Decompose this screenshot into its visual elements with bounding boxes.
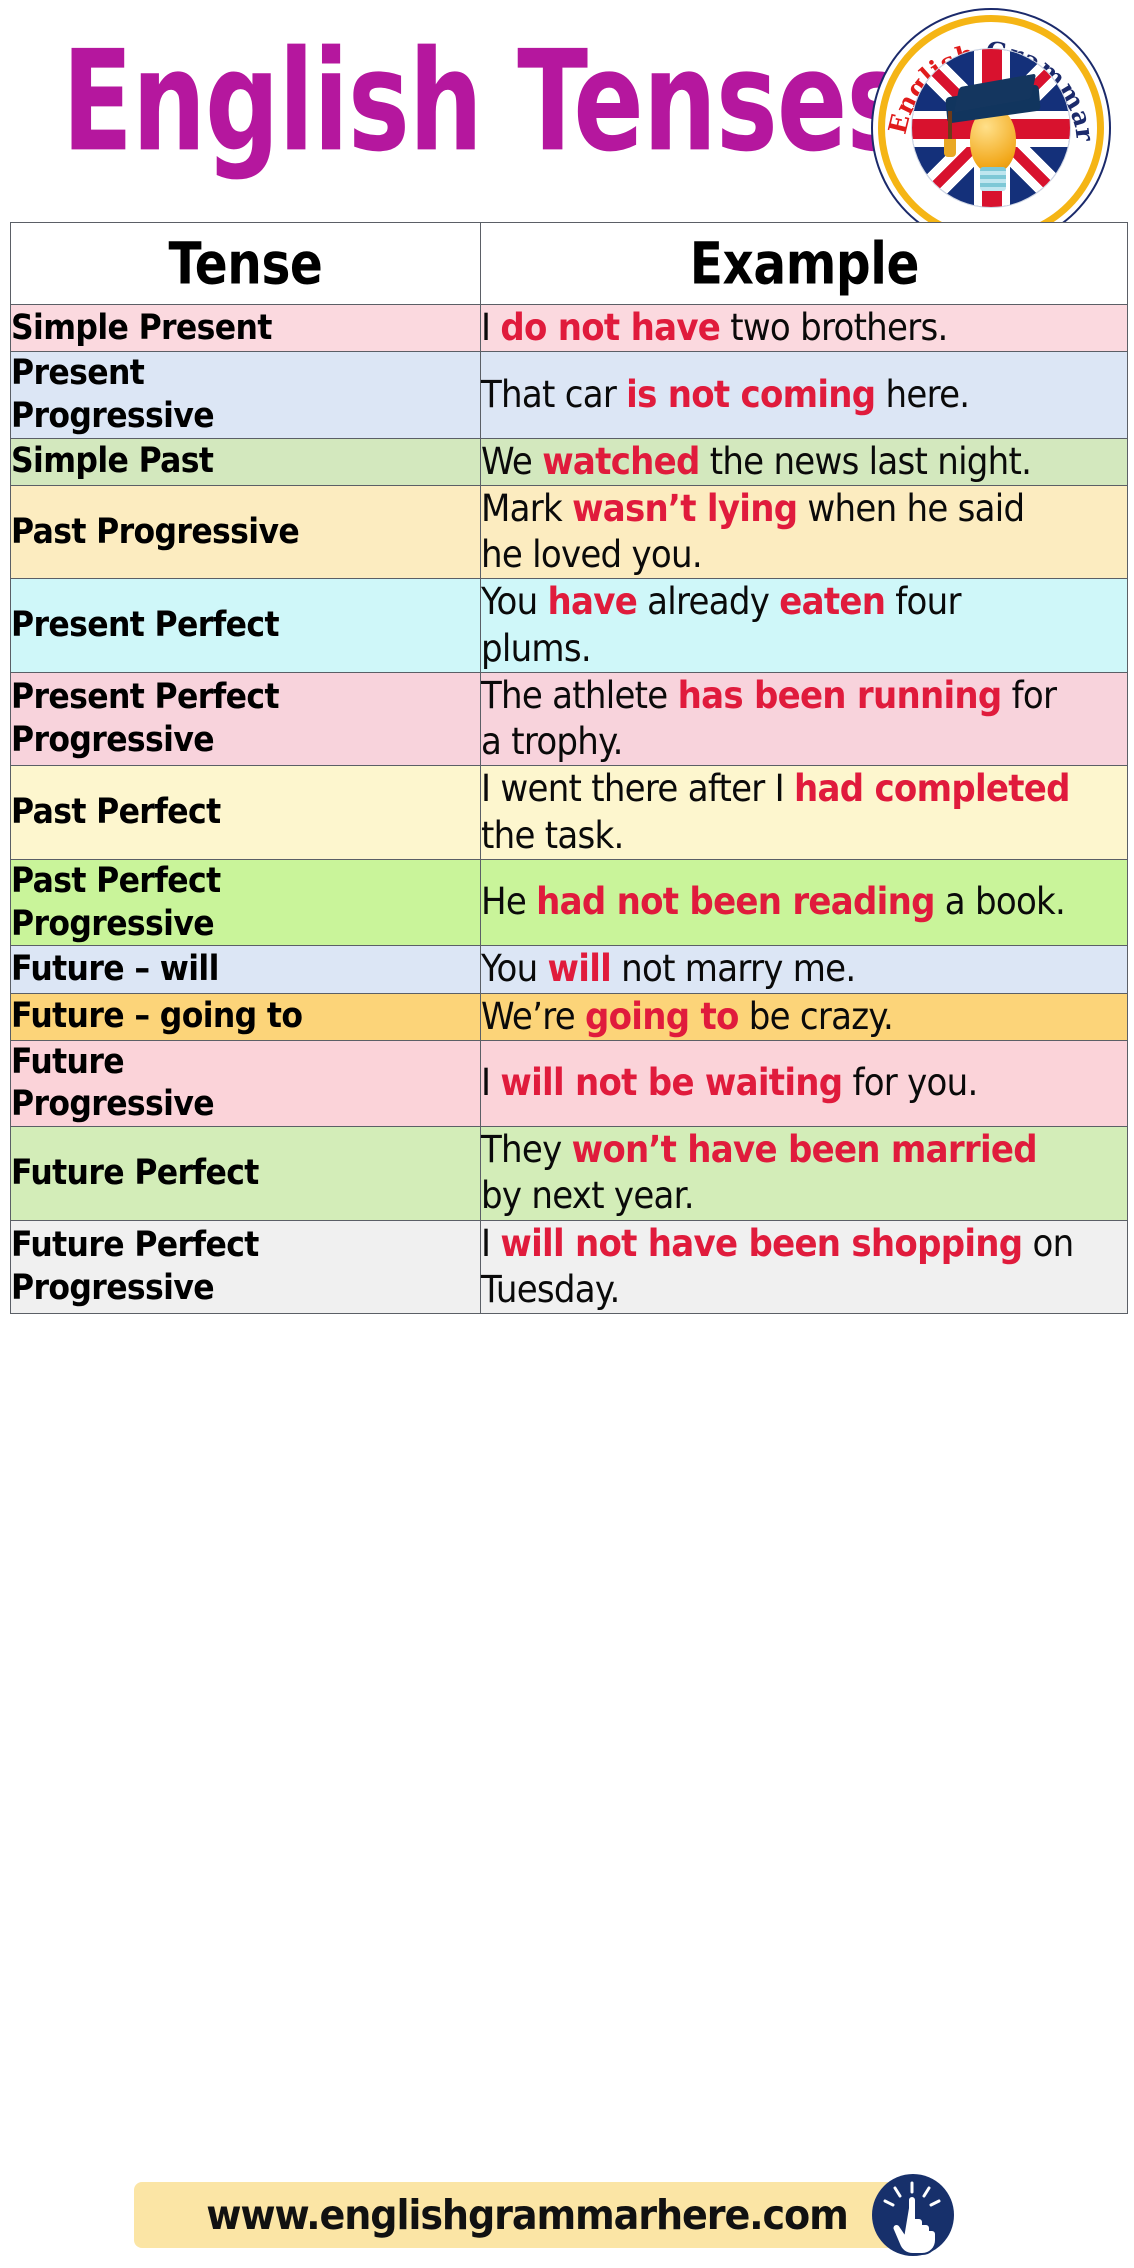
example-sentence: I do not have two brothers. [481, 305, 1075, 351]
example-cell: You will not marry me. [481, 946, 1128, 993]
example-cell: He had not been reading a book. [481, 859, 1128, 945]
tense-cell: Present Perfect Progressive [11, 672, 481, 766]
example-cell: I do not have two brothers. [481, 305, 1128, 352]
tense-label: Past Perfect [11, 791, 433, 834]
example-sentence: I will not have been shopping on Tuesday… [481, 1221, 1075, 1314]
example-cell: That car is not coming here. [481, 352, 1128, 438]
example-sentence: You have already eaten four plums. [481, 579, 1075, 672]
lightbulb-base-icon [980, 167, 1006, 191]
tense-label: Future Perfect [11, 1152, 433, 1195]
tense-label: Present Perfect [11, 604, 433, 647]
example-sentence: Mark wasn’t lying when he said he loved … [481, 486, 1075, 579]
table-row: Simple PastWe watched the news last nigh… [11, 438, 1128, 485]
tense-cell: Future Perfect [11, 1127, 481, 1221]
table-row: Past ProgressiveMark wasn’t lying when h… [11, 485, 1128, 579]
tense-label: Future Progressive [11, 1041, 433, 1126]
table-row: Future – willYou will not marry me. [11, 946, 1128, 993]
tense-label: Simple Past [11, 440, 433, 483]
column-header-tense-label: Tense [169, 229, 323, 297]
example-sentence: That car is not coming here. [481, 372, 1075, 418]
tense-label: Past Perfect Progressive [11, 860, 433, 945]
tense-label: Future – will [11, 948, 433, 991]
table-row: Past Perfect ProgressiveHe had not been … [11, 859, 1128, 945]
tense-cell: Future Perfect Progressive [11, 1220, 481, 1314]
example-cell: We’re going to be crazy. [481, 993, 1128, 1040]
column-header-example-label: Example [689, 229, 918, 297]
website-url[interactable]: www.englishgrammarhere.com [162, 2182, 893, 2248]
tense-cell: Future – going to [11, 993, 481, 1040]
page-footer: www.englishgrammarhere.com [0, 2172, 1134, 2268]
page-title: English Tenses [62, 13, 757, 190]
table-row: Present ProgressiveThat car is not comin… [11, 352, 1128, 438]
tense-cell: Future – will [11, 946, 481, 993]
tenses-table: Tense Example Simple PresentI do not hav… [10, 222, 1128, 1314]
tense-label: Future Perfect Progressive [11, 1224, 433, 1309]
example-cell: I will not be waiting for you. [481, 1040, 1128, 1126]
english-tenses-infographic: English Tenses English Grammar Here.Com [0, 0, 1134, 2268]
table-row: Future PerfectThey won’t have been marri… [11, 1127, 1128, 1221]
table-row: Past PerfectI went there after I had com… [11, 766, 1128, 860]
table-body: Simple PresentI do not have two brothers… [11, 305, 1128, 1314]
example-cell: The athlete has been running for a troph… [481, 672, 1128, 766]
tense-cell: Simple Present [11, 305, 481, 352]
example-cell: They won’t have been married by next yea… [481, 1127, 1128, 1221]
table-row: Present PerfectYou have already eaten fo… [11, 579, 1128, 673]
tense-label: Present Perfect Progressive [11, 676, 433, 761]
graduation-tassel-end-icon [944, 139, 956, 157]
example-sentence: I went there after I had completed the t… [481, 766, 1075, 859]
tense-cell: Simple Past [11, 438, 481, 485]
table-row: Future ProgressiveI will not be waiting … [11, 1040, 1128, 1126]
example-cell: I went there after I had completed the t… [481, 766, 1128, 860]
tense-label: Present Progressive [11, 352, 433, 437]
example-cell: We watched the news last night. [481, 438, 1128, 485]
table-row: Future – going toWe’re going to be crazy… [11, 993, 1128, 1040]
logo-emblem [911, 48, 1071, 208]
example-sentence: They won’t have been married by next yea… [481, 1127, 1075, 1220]
table-header-row: Tense Example [11, 223, 1128, 305]
tense-label: Past Progressive [11, 511, 433, 554]
example-cell: Mark wasn’t lying when he said he loved … [481, 485, 1128, 579]
page-header: English Tenses English Grammar Here.Com [0, 0, 1134, 222]
example-sentence: I will not be waiting for you. [481, 1060, 1075, 1106]
tense-cell: Future Progressive [11, 1040, 481, 1126]
tense-label: Simple Present [11, 307, 433, 350]
tense-label: Future – going to [11, 995, 433, 1038]
click-hand-icon[interactable] [872, 2174, 954, 2256]
example-sentence: We watched the news last night. [481, 439, 1075, 485]
tense-cell: Past Perfect [11, 766, 481, 860]
table-row: Present Perfect ProgressiveThe athlete h… [11, 672, 1128, 766]
table-row: Future Perfect ProgressiveI will not hav… [11, 1220, 1128, 1314]
column-header-tense: Tense [11, 223, 481, 305]
example-sentence: He had not been reading a book. [481, 879, 1075, 925]
example-cell: I will not have been shopping on Tuesday… [481, 1220, 1128, 1314]
column-header-example: Example [481, 223, 1128, 305]
example-sentence: The athlete has been running for a troph… [481, 673, 1075, 766]
example-sentence: We’re going to be crazy. [481, 994, 1075, 1040]
tense-cell: Present Perfect [11, 579, 481, 673]
tense-cell: Present Progressive [11, 352, 481, 438]
tense-cell: Past Progressive [11, 485, 481, 579]
table-row: Simple PresentI do not have two brothers… [11, 305, 1128, 352]
example-sentence: You will not marry me. [481, 946, 1075, 992]
english-grammar-here-logo: English Grammar Here.Com [871, 8, 1111, 248]
example-cell: You have already eaten four plums. [481, 579, 1128, 673]
tense-cell: Past Perfect Progressive [11, 859, 481, 945]
graduation-tassel-icon [948, 111, 952, 141]
